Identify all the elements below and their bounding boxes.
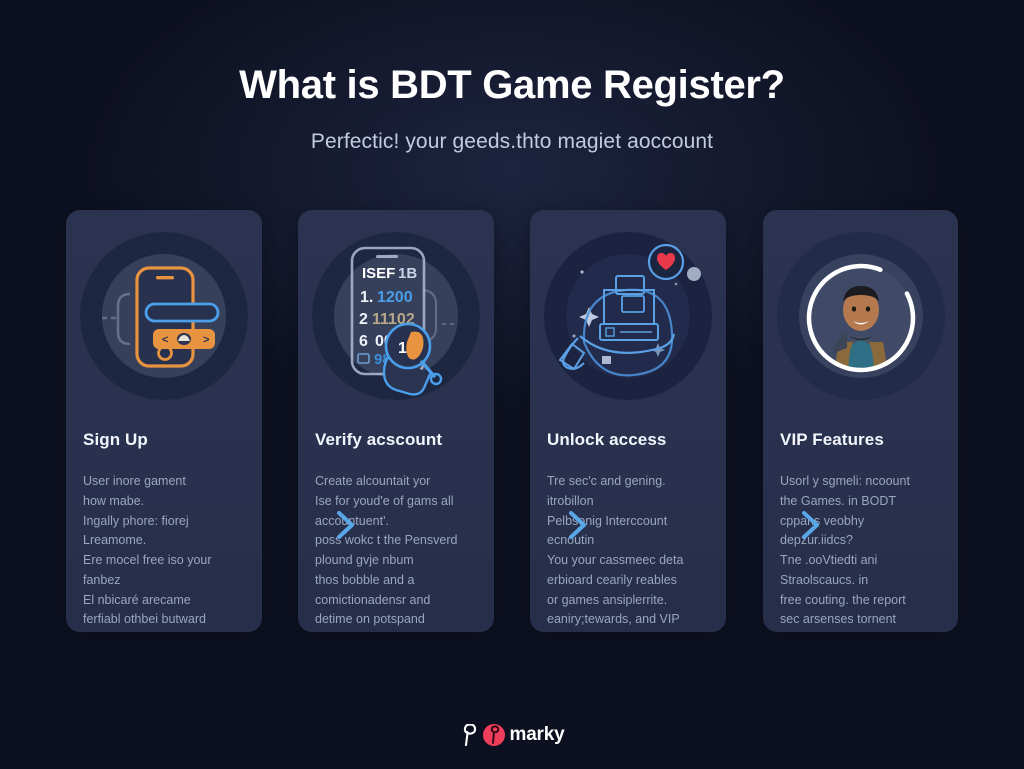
chevron-right-icon-1 [332, 506, 358, 544]
infographic-page: What is BDT Game Register? Perfectic! yo… [0, 0, 1024, 769]
header: What is BDT Game Register? Perfectic! yo… [0, 0, 1024, 154]
step-description: Tre sec'c and gening. itrobillon Pelbson… [547, 472, 709, 630]
hand-desk-unlock-icon [544, 232, 712, 400]
vip-person-avatar [777, 232, 945, 400]
svg-text:1: 1 [398, 340, 407, 357]
step-art-3 [530, 210, 726, 418]
step-heading: VIP Features [780, 430, 942, 450]
marky-logo-icon[interactable]: marky [460, 724, 565, 746]
chevron-right-icon-3 [797, 506, 823, 544]
svg-text:1200: 1200 [377, 289, 413, 306]
step-card-vip-features[interactable]: VIP Features Usorl y sgmeli: ncoount the… [763, 210, 958, 632]
steps-row: < > Sign Up User inore gament how mabe. … [66, 210, 958, 632]
step-art-2: ISEF 1B 1. 1200 2 11102 6 00 98 1 [298, 210, 494, 418]
step-heading: Sign Up [83, 430, 245, 450]
phone-signup-icon: < > [80, 232, 248, 400]
step-card-sign-up[interactable]: < > Sign Up User inore gament how mabe. … [66, 210, 262, 632]
step-body-3: Unlock access Tre sec'c and gening. itro… [530, 418, 726, 630]
step-body-1: Sign Up User inore gament how mabe. Inga… [66, 418, 262, 632]
chevron-right-icon-2 [564, 506, 590, 544]
logo-text: marky [510, 724, 565, 746]
step-art-4 [763, 210, 958, 418]
svg-text:1B: 1B [398, 265, 417, 282]
step-heading: Verify acscount [315, 430, 477, 450]
step-body-4: VIP Features Usorl y sgmeli: ncoount the… [763, 418, 958, 632]
svg-text:>: > [203, 334, 209, 346]
svg-text:<: < [162, 334, 168, 346]
step-card-verify-account[interactable]: ISEF 1B 1. 1200 2 11102 6 00 98 1 [298, 210, 494, 632]
logo-glyph [460, 724, 480, 746]
page-title: What is BDT Game Register? [0, 62, 1024, 108]
step-art-1: < > [66, 210, 262, 418]
logo-badge-icon [483, 724, 505, 746]
step-card-unlock-access[interactable]: Unlock access Tre sec'c and gening. itro… [530, 210, 726, 632]
footer: marky [0, 700, 1024, 769]
svg-text:1.: 1. [360, 289, 373, 306]
svg-text:2: 2 [359, 311, 368, 328]
step-description: Create alcountait yor Ise for youd'e of … [315, 472, 477, 632]
step-heading: Unlock access [547, 430, 709, 450]
phone-otp-verify-icon: ISEF 1B 1. 1200 2 11102 6 00 98 1 [312, 232, 480, 400]
step-body-2: Verify acscount Create alcountait yor Is… [298, 418, 494, 632]
page-subtitle: Perfectic! your geeds.thto magiet aoccou… [0, 130, 1024, 154]
svg-text:ISEF: ISEF [362, 265, 395, 282]
step-description: Usorl y sgmeli: ncoount the Games. in BO… [780, 472, 942, 632]
svg-text:6: 6 [359, 333, 368, 350]
step-description: User inore gament how mabe. Ingally phor… [83, 472, 245, 632]
